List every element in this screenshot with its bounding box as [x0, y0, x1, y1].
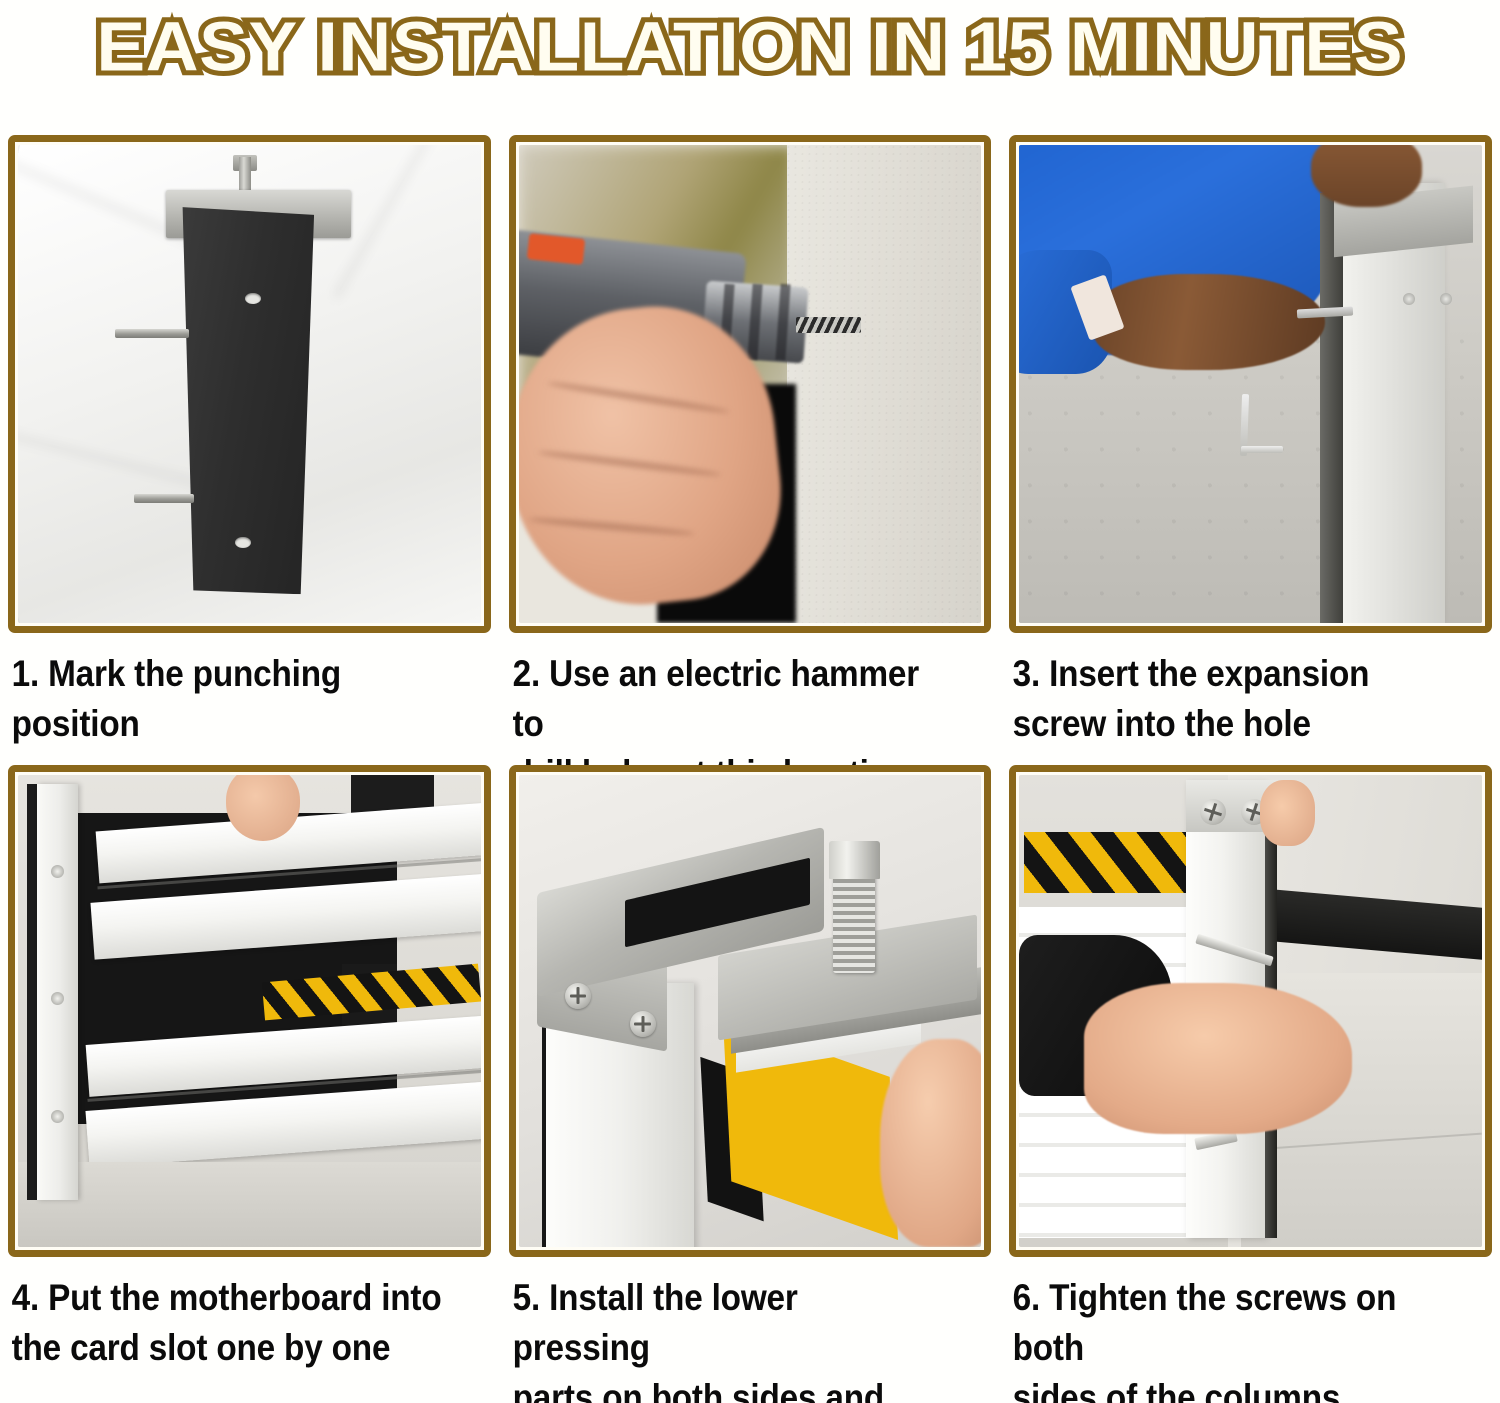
infographic-sheet: EASY INSTALLATION IN 15 MINUTES: [0, 0, 1500, 1403]
white-wall: [787, 145, 981, 623]
drill-bit-icon: [796, 317, 861, 333]
screw-icon: [134, 494, 194, 503]
column-dark-edge: [1320, 193, 1343, 623]
step-caption-1: 1. Mark the punching position: [8, 633, 442, 765]
step-photo-5: [509, 765, 992, 1257]
photo-tighten-screws: [1019, 775, 1482, 1247]
photo-drilling-wall: [519, 145, 982, 623]
photo-motherboard-slot: [18, 775, 481, 1247]
column-body: [180, 207, 314, 594]
photo-pressing-bracket: [519, 775, 982, 1247]
bolt-head-icon: [829, 841, 880, 879]
step-caption-2: 2. Use an electric hammer to drill holes…: [509, 633, 943, 765]
step-photo-2: [509, 135, 992, 633]
step-photo-1: [8, 135, 491, 633]
step-caption-3: 3. Insert the expansion screw into the h…: [1009, 633, 1443, 765]
hand: [880, 1039, 982, 1247]
floor: [18, 1162, 481, 1247]
phillips-screw-icon: [565, 983, 591, 1009]
step-caption-6: 6. Tighten the screws on both sides of t…: [1009, 1257, 1443, 1390]
step-caption-5: 5. Install the lower pressing parts on b…: [509, 1257, 943, 1390]
step-photo-4: [8, 765, 491, 1257]
step-photo-3: [1009, 135, 1492, 633]
screw-icon: [51, 865, 64, 878]
screw-slot: [570, 994, 587, 997]
hazard-stripe: [1024, 832, 1191, 893]
step-photo-6: [1009, 765, 1492, 1257]
forearm: [1093, 274, 1324, 370]
photo-expansion-screw: [1019, 145, 1482, 623]
upper-hand: [1260, 780, 1316, 846]
screw-icon: [115, 329, 189, 338]
phillips-screw-icon: [1200, 799, 1226, 825]
page-title: EASY INSTALLATION IN 15 MINUTES: [97, 13, 1404, 82]
upper-hand: [1311, 145, 1422, 207]
phillips-screw-icon: [630, 1011, 656, 1037]
photo-column-baseplate: [18, 145, 481, 623]
step-caption-4: 4. Put the motherboard into the card slo…: [8, 1257, 442, 1390]
steps-grid: 1. Mark the punching position 2. Use an …: [8, 135, 1492, 1390]
title-bar: EASY INSTALLATION IN 15 MINUTES: [0, 0, 1500, 96]
mounting-hole: [245, 293, 261, 304]
screw-slot: [634, 1023, 651, 1026]
hand: [1084, 983, 1352, 1134]
allen-wrench-icon: [1241, 446, 1283, 453]
